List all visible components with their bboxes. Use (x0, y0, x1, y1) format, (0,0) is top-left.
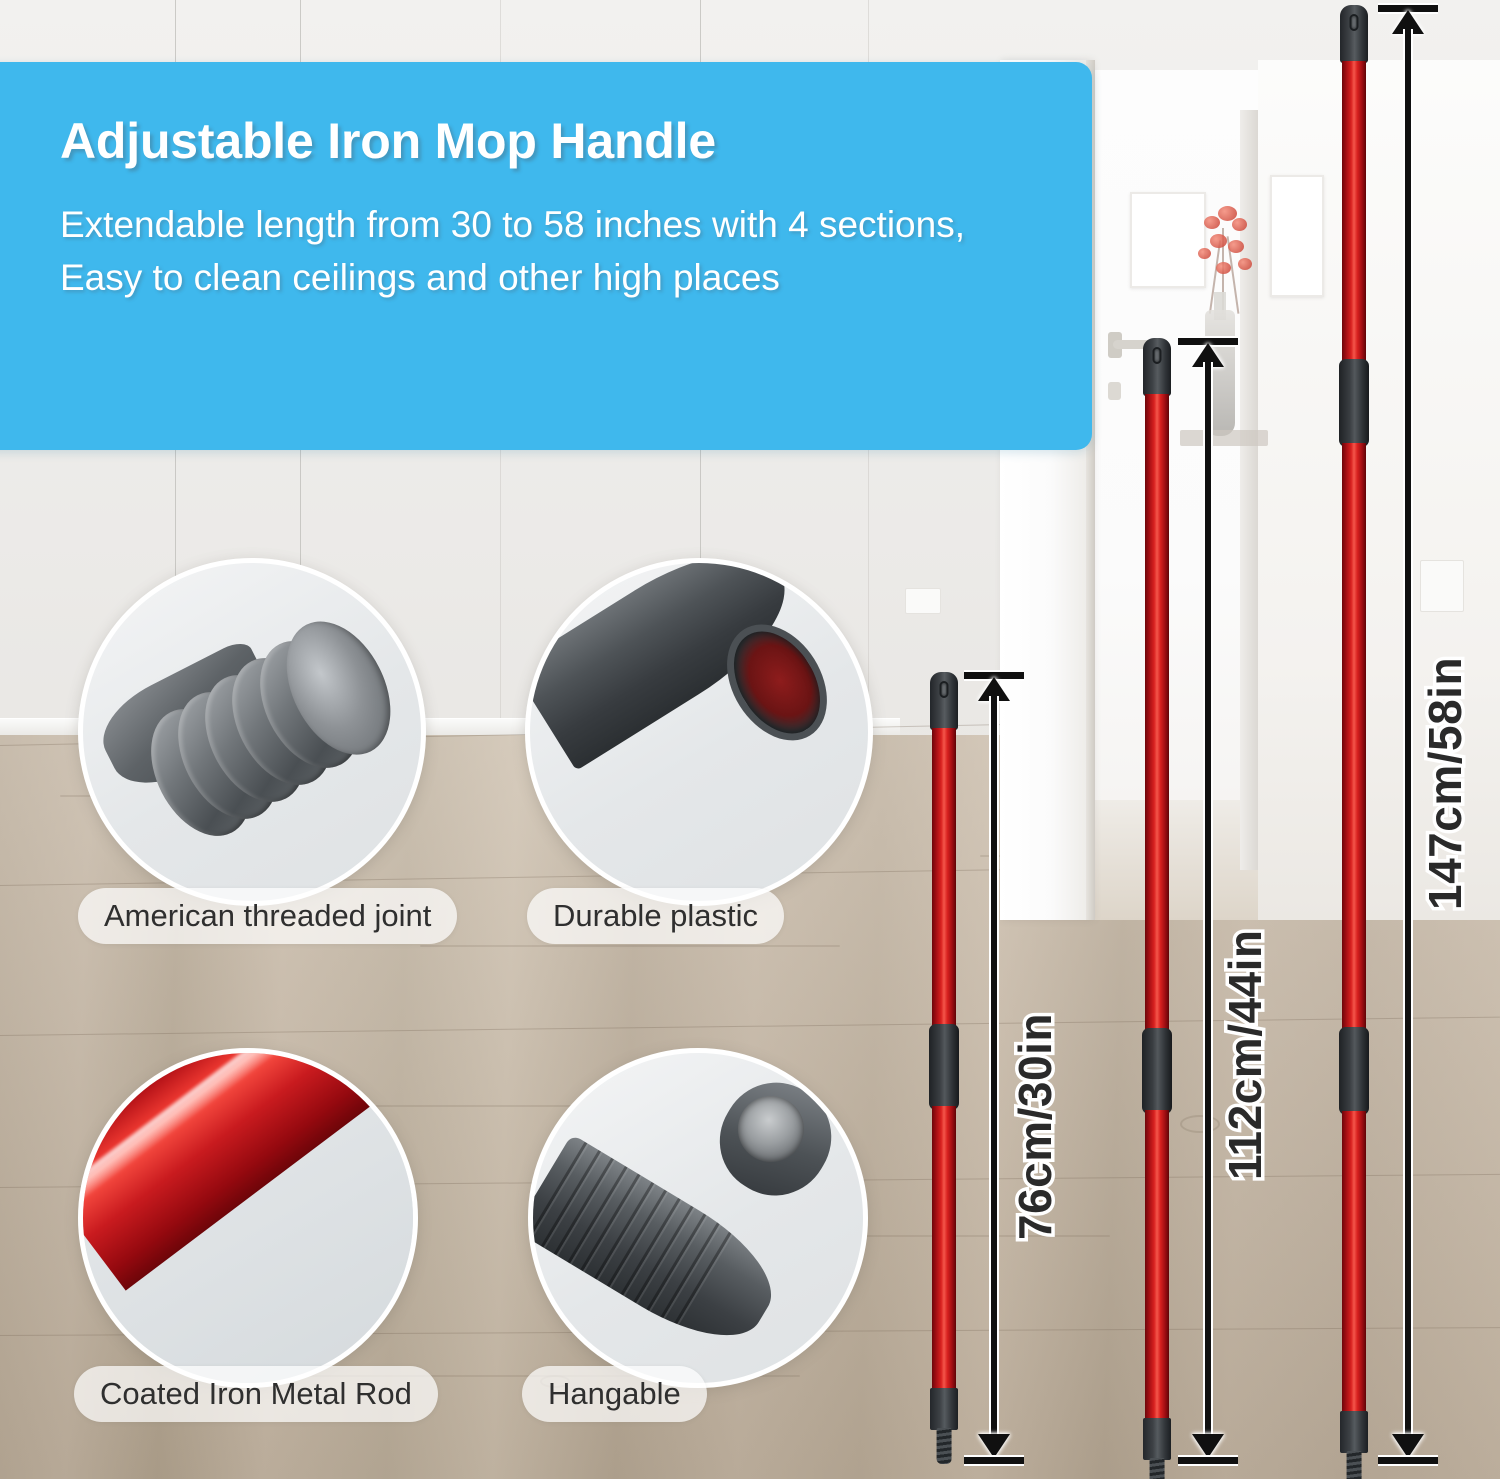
pole-collar-joint (929, 1024, 959, 1110)
threaded-joint-icon (78, 558, 426, 906)
dimension-tick-bottom (1178, 1457, 1238, 1464)
mop-pole-medium (1145, 338, 1169, 1462)
hang-hole-icon (1153, 347, 1162, 364)
feature-label-text: American threaded joint (104, 898, 431, 934)
dimension-arrow-down (978, 1434, 1010, 1458)
pole-ferrule (1340, 1411, 1368, 1453)
header-banner: Adjustable Iron Mop Handle Extendable le… (0, 62, 1092, 450)
door-lock-icon (1108, 382, 1121, 400)
dimension-line (1205, 362, 1211, 1438)
pole-collar-joint-upper (1339, 359, 1369, 447)
pole-section-upper (1145, 394, 1169, 1034)
dimension-arrow-down (1192, 1434, 1224, 1458)
feature-label-pill: Coated Iron Metal Rod (74, 1366, 438, 1422)
feature-label-pill: Hangable (522, 1366, 707, 1422)
dimension-label-medium: 112cm/44in (1218, 929, 1272, 1180)
threaded-screw-tip-icon (1347, 1451, 1362, 1479)
pole-end-cap (930, 672, 958, 730)
pole-ferrule (1143, 1418, 1171, 1460)
pole-collar-joint (1142, 1028, 1172, 1114)
mop-pole-long (1342, 5, 1366, 1462)
red-metal-rod-icon (78, 1048, 418, 1388)
page-subtitle: Extendable length from 30 to 58 inches w… (60, 199, 1032, 304)
feature-label-text: Hangable (548, 1376, 681, 1412)
dimension-line (991, 696, 997, 1438)
pole-section-upper (932, 728, 956, 1032)
dimension-tick-bottom (964, 1457, 1024, 1464)
pole-section-upper (1342, 61, 1366, 365)
pole-end-cap (1340, 5, 1368, 63)
pole-section-lower (932, 1106, 956, 1394)
pole-section-middle (1342, 443, 1366, 1033)
feature-callout-coated-iron-metal-rod: Coated Iron Metal Rod (78, 1048, 478, 1438)
feature-callout-durable-plastic: Durable plastic (525, 558, 875, 948)
picture-frame (1270, 175, 1324, 297)
threaded-screw-tip-icon (1150, 1458, 1165, 1479)
dimension-annotation-medium (1178, 338, 1238, 1462)
dimension-line (1405, 29, 1411, 1438)
feature-callout-hangable: Hangable (528, 1048, 878, 1438)
pole-end-cap (1143, 338, 1171, 396)
pole-section-lower (1342, 1111, 1366, 1417)
product-infographic: Adjustable Iron Mop Handle Extendable le… (0, 0, 1500, 1479)
dimension-tick-bottom (1378, 1457, 1438, 1464)
hanging-grip-icon (528, 1048, 868, 1388)
dimension-arrow-down (1392, 1434, 1424, 1458)
wall-outlet (905, 588, 941, 614)
pole-collar-joint-lower (1339, 1027, 1369, 1115)
feature-label-text: Durable plastic (553, 898, 758, 934)
dimension-label-long: 147cm/58in (1418, 657, 1472, 910)
pole-section-lower (1145, 1110, 1169, 1424)
page-title: Adjustable Iron Mop Handle (60, 114, 1032, 169)
feature-label-pill: American threaded joint (78, 888, 457, 944)
feature-callout-american-threaded-joint: American threaded joint (78, 558, 458, 948)
threaded-screw-tip-icon (937, 1428, 952, 1464)
feature-label-text: Coated Iron Metal Rod (100, 1376, 412, 1412)
dimension-label-short: 76cm/30in (1008, 1013, 1062, 1240)
pole-ferrule (930, 1388, 958, 1430)
hang-hole-icon (1350, 14, 1359, 31)
plastic-tube-icon (525, 558, 873, 906)
mop-pole-short (932, 672, 956, 1462)
hang-hole-icon (940, 681, 949, 698)
feature-label-pill: Durable plastic (527, 888, 784, 944)
